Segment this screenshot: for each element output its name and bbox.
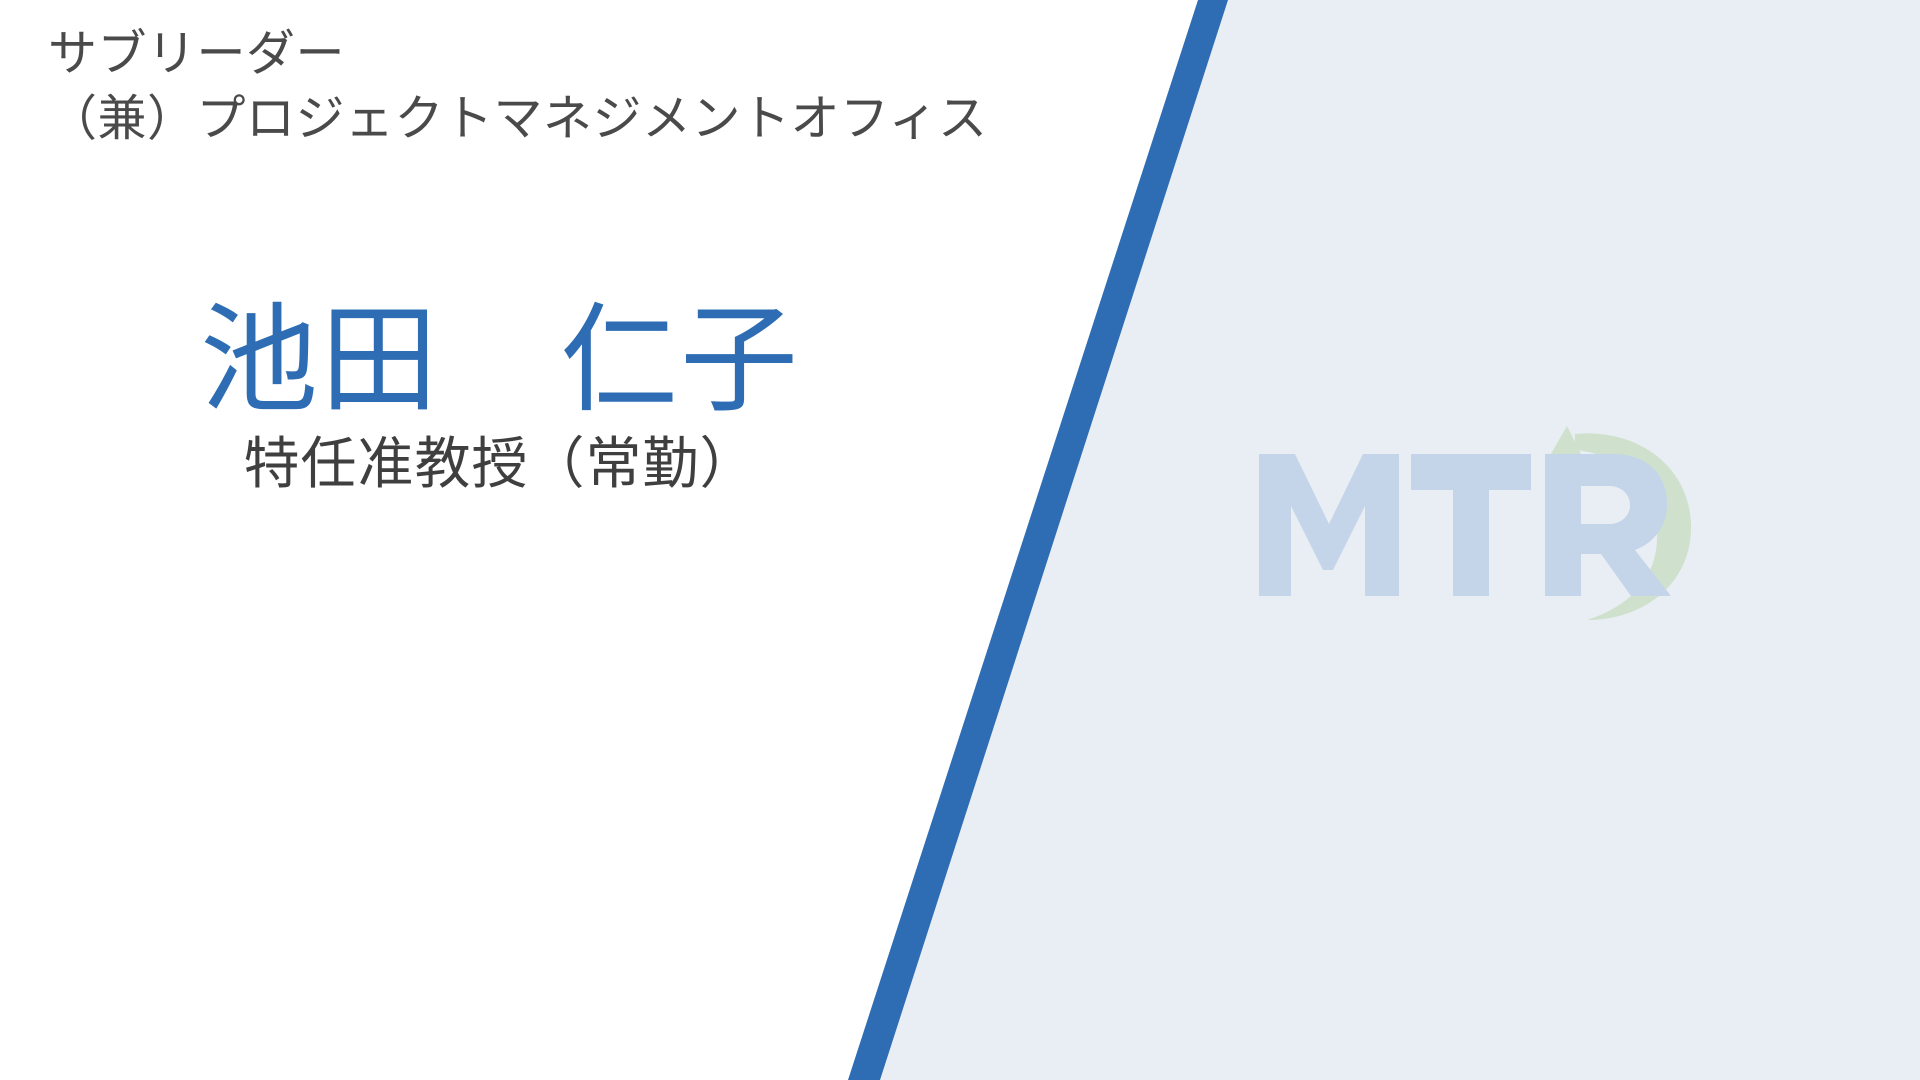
mtr-logo-icon [1245,420,1705,640]
role-line-2: （兼）プロジェクトマネジメントオフィス [48,87,1108,152]
person-identity: 池田 仁子 特任准教授（常勤） [0,300,1000,497]
profile-text-block: サブリーダー （兼）プロジェクトマネジメントオフィス 池田 仁子 特任准教授（常… [0,0,1150,1080]
mtr-logo-watermark [1245,420,1705,640]
person-title: 特任准教授（常勤） [0,430,1000,497]
role-heading: サブリーダー （兼）プロジェクトマネジメントオフィス [48,22,1108,152]
person-name: 池田 仁子 [0,300,1000,424]
role-line-1: サブリーダー [48,22,1108,87]
profile-slide: サブリーダー （兼）プロジェクトマネジメントオフィス 池田 仁子 特任准教授（常… [0,0,1920,1080]
mtr-wordmark [1259,454,1671,596]
